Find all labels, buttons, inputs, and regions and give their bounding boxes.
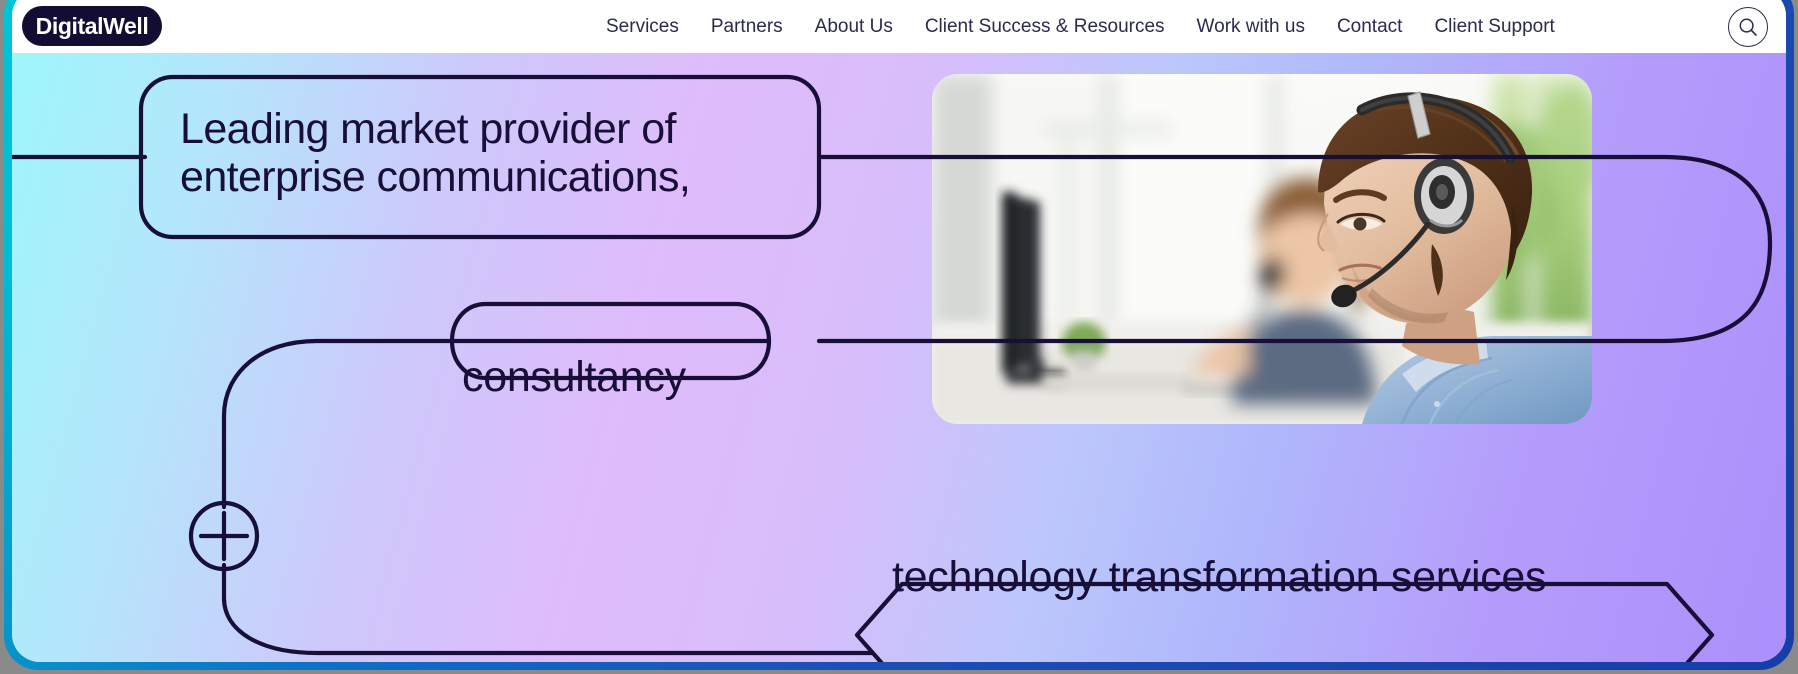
- plus-circle-button[interactable]: [191, 503, 257, 569]
- page-root: DigitalWell Services Partners About Us C…: [0, 0, 1798, 674]
- headline-box-hit[interactable]: [141, 77, 819, 237]
- hero-section: Leading market provider ofenterprise com…: [12, 53, 1786, 662]
- nav-item-about-us[interactable]: About Us: [799, 16, 909, 38]
- primary-navigation: Services Partners About Us Client Succes…: [590, 0, 1571, 53]
- nav-item-client-support[interactable]: Client Support: [1418, 16, 1570, 38]
- technology-chevron-hit[interactable]: [857, 584, 1712, 662]
- nav-item-partners[interactable]: Partners: [695, 16, 799, 38]
- top-navbar: DigitalWell Services Partners About Us C…: [12, 0, 1786, 53]
- nav-item-work-with-us[interactable]: Work with us: [1181, 16, 1321, 38]
- search-icon: [1737, 16, 1759, 38]
- search-button[interactable]: [1728, 7, 1768, 47]
- nav-item-client-success[interactable]: Client Success & Resources: [909, 16, 1181, 38]
- brand-logo[interactable]: DigitalWell: [22, 6, 162, 46]
- connector-plus-to-chevron: [224, 565, 872, 653]
- consultancy-pill-hit[interactable]: [452, 304, 769, 378]
- nav-item-contact[interactable]: Contact: [1321, 16, 1418, 38]
- connector-right-uturn: [819, 157, 1770, 341]
- brand-logo-text: DigitalWell: [36, 13, 149, 40]
- nav-item-services[interactable]: Services: [590, 16, 695, 38]
- connector-pill-to-plus: [224, 341, 452, 507]
- page-frame: DigitalWell Services Partners About Us C…: [12, 0, 1786, 662]
